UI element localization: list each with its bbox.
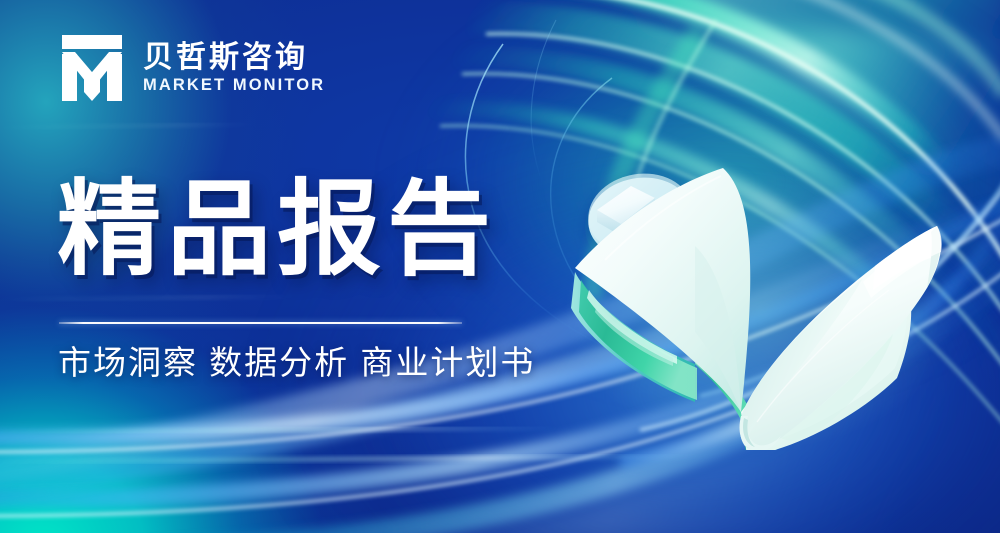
brand-logo[interactable]: 贝哲斯咨询 MARKET MONITOR	[57, 32, 325, 104]
book-svg	[545, 150, 965, 450]
market-monitor-m-logo-icon	[57, 32, 127, 104]
brand-logo-text: 贝哲斯咨询 MARKET MONITOR	[143, 42, 325, 95]
page-title: 精品报告	[57, 176, 497, 285]
logo-mark-svg	[57, 32, 127, 104]
page-subtitle: 市场洞察 数据分析 商业计划书	[58, 338, 535, 388]
title-divider	[59, 322, 462, 324]
brand-name-cn: 贝哲斯咨询	[143, 42, 325, 74]
brand-name-en: MARKET MONITOR	[143, 77, 325, 94]
open-book-illustration	[545, 150, 965, 450]
report-banner: 贝哲斯咨询 MARKET MONITOR 精品报告 市场洞察 数据分析 商业计划…	[0, 0, 1000, 533]
